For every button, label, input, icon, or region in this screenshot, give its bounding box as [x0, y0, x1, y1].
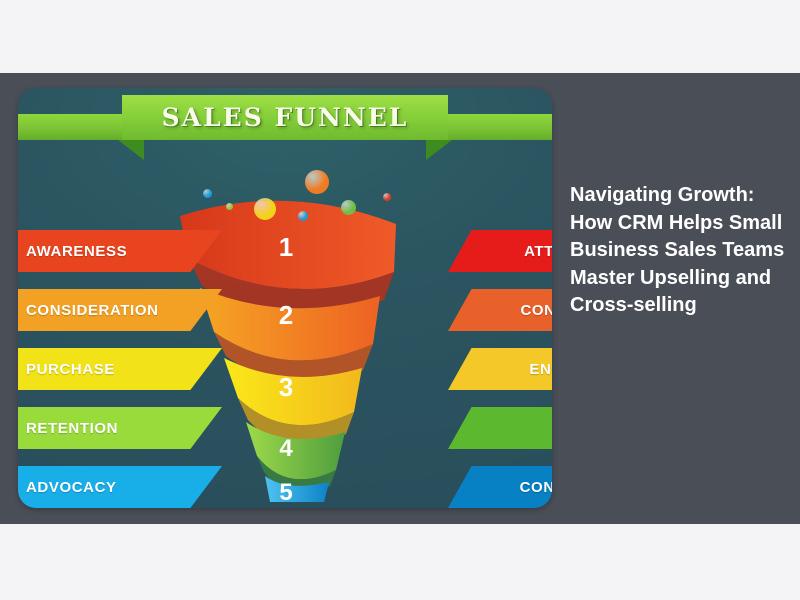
svg-text:5: 5 — [279, 479, 292, 502]
stage-label-left: CONSIDERATION — [26, 302, 159, 319]
stage-label-right: ENGAGE — [529, 361, 552, 378]
article-headline: Navigating Growth: How CRM Helps Small B… — [570, 182, 785, 320]
stage-bar-right-sell: SELL — [448, 407, 552, 449]
ribbon-fold-left — [118, 140, 144, 160]
svg-text:3: 3 — [279, 372, 293, 402]
svg-text:4: 4 — [279, 435, 293, 462]
svg-text:2: 2 — [279, 300, 293, 330]
ribbon-wing-right — [434, 114, 552, 140]
stage-bar-right-engage: ENGAGE — [448, 348, 552, 390]
stage-bar-left-consideration: CONSIDERATION — [18, 289, 222, 331]
bubble-2 — [341, 200, 356, 215]
ribbon-fold-right — [426, 140, 452, 160]
stage-label-left: PURCHASE — [26, 361, 115, 378]
stage-label-left: ADVOCACY — [26, 479, 117, 496]
bubble-3 — [203, 189, 212, 198]
bubble-6 — [226, 203, 233, 210]
svg-text:1: 1 — [279, 232, 293, 262]
stage-label-left: AWARENESS — [26, 243, 127, 260]
stage-bar-right-attract: ATTRACT — [448, 230, 552, 272]
stage-bar-right-connect: CONNECT — [448, 466, 552, 508]
bubble-5 — [383, 193, 391, 201]
bubble-4 — [298, 211, 308, 221]
stage-bar-right-convert: CONVERT — [448, 289, 552, 331]
ribbon-banner: SALES FUNNEL — [122, 95, 448, 140]
stage-bar-left-awareness: AWARENESS — [18, 230, 222, 272]
card-inner-background: SALES FUNNEL — [18, 88, 552, 508]
stage-bar-left-purchase: PURCHASE — [18, 348, 222, 390]
stage-label-right: ATTRACT — [524, 243, 552, 260]
bubble-1 — [254, 198, 276, 220]
stage-bar-left-advocacy: ADVOCACY — [18, 466, 222, 508]
sales-funnel-infographic: SALES FUNNEL — [18, 88, 552, 508]
stage-label-left: RETENTION — [26, 420, 118, 437]
stage-bar-left-retention: RETENTION — [18, 407, 222, 449]
stage-label-right: CONVERT — [520, 302, 552, 319]
stage-label-right: CONNECT — [520, 479, 552, 496]
infographic-title: SALES FUNNEL — [162, 103, 409, 132]
page-background: SALES FUNNEL — [0, 0, 800, 600]
bubble-0 — [305, 170, 329, 194]
ribbon-wing-left — [18, 114, 136, 140]
